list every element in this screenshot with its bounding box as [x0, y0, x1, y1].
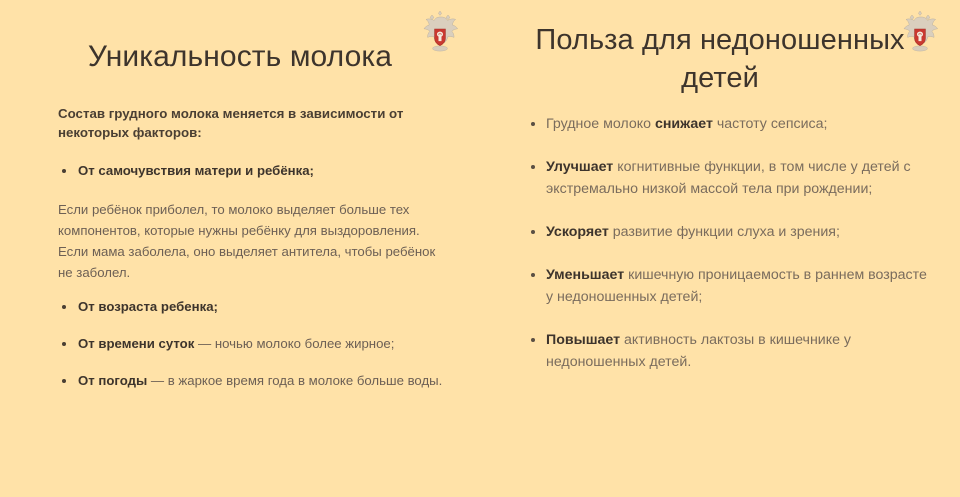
list-item-emphasis: Уменьшает — [546, 267, 624, 283]
list-item: Грудное молоко снижает частоту сепсиса; — [527, 113, 932, 135]
list-item: От погоды — в жаркое время года в молоке… — [58, 371, 444, 391]
list-item: Ускоряет развитие функции слуха и зрения… — [527, 221, 932, 243]
uniqueness-bullets-bottom: От возраста ребенка; От времени суток — … — [58, 297, 444, 391]
list-item: Повышает активность лактозы в кишечнике … — [527, 329, 932, 373]
list-item-emphasis: От времени суток — [78, 336, 194, 351]
slide-preterm-benefit: Польза для недоношенных детей Грудное мо… — [480, 0, 960, 497]
list-item: От самочувствия матери и ребёнка; — [58, 161, 444, 181]
list-item: От времени суток — ночью молоко более жи… — [58, 334, 444, 354]
uniqueness-bullets-top: От самочувствия матери и ребёнка; — [58, 161, 444, 181]
list-item-emphasis: Улучшает — [546, 159, 613, 175]
list-item-emphasis: От возраста ребенка; — [78, 299, 218, 314]
list-item-emphasis: снижает — [655, 116, 713, 132]
preterm-benefit-body: Грудное молоко снижает частоту сепсиса; … — [527, 113, 932, 373]
list-item: Улучшает когнитивные функции, в том числ… — [527, 156, 932, 200]
list-item: От возраста ребенка; — [58, 297, 444, 317]
page-title-preterm-benefit: Польза для недоношенных детей — [480, 21, 960, 97]
list-item-emphasis: От самочувствия матери и ребёнка; — [78, 163, 314, 178]
list-item-emphasis: Ускоряет — [546, 224, 609, 240]
list-item-emphasis: От погоды — [78, 373, 147, 388]
uniqueness-paragraph: Если ребёнок приболел, то молоко выделяе… — [58, 199, 444, 283]
page-title-uniqueness: Уникальность молока — [0, 38, 480, 76]
preterm-benefit-bullets: Грудное молоко снижает частоту сепсиса; … — [527, 113, 932, 373]
list-item-rest: — ночью молоко более жирное; — [194, 336, 394, 351]
slide-pair: Уникальность молока Состав грудного моло… — [0, 0, 960, 497]
list-item-emphasis: Повышает — [546, 332, 620, 348]
uniqueness-body: Состав грудного молока меняется в зависи… — [58, 104, 444, 391]
list-item: Уменьшает кишечную проницаемость в ранне… — [527, 264, 932, 308]
slide-uniqueness: Уникальность молока Состав грудного моло… — [0, 0, 480, 497]
list-item-prefix: Грудное молоко — [546, 116, 655, 132]
list-item-rest: — в жаркое время года в молоке больше во… — [147, 373, 442, 388]
uniqueness-lead-text: Состав грудного молока меняется в зависи… — [58, 104, 444, 142]
list-item-suffix: частоту сепсиса; — [713, 116, 828, 132]
list-item-suffix: развитие функции слуха и зрения; — [609, 224, 840, 240]
